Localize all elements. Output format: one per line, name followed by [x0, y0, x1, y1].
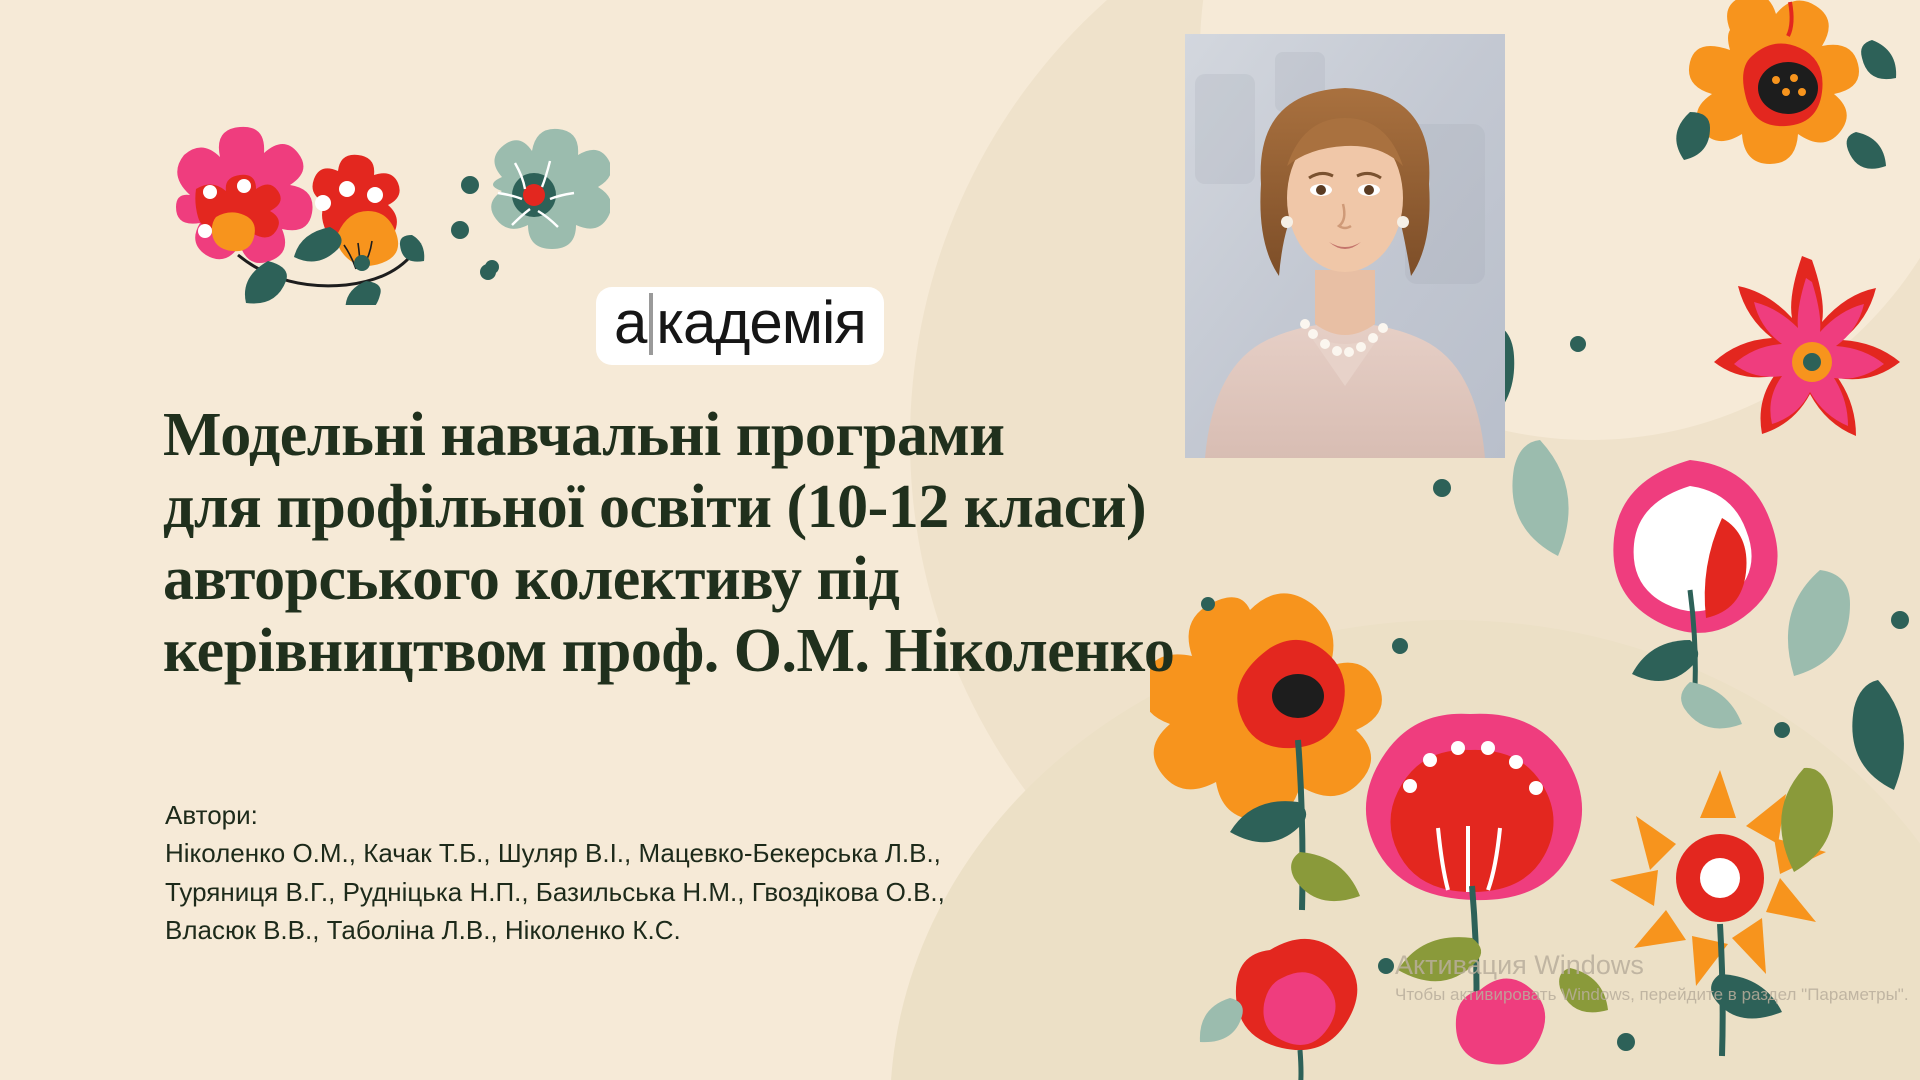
red-bud-flower-icon — [313, 155, 400, 269]
title-line-3: авторського колективу під — [163, 544, 1343, 616]
leaf-icon — [294, 227, 342, 262]
portrait-photo — [1185, 34, 1505, 458]
page-title: Модельні навчальні програми для профільн… — [163, 400, 1343, 688]
title-line-1: Модельні навчальні програми — [163, 400, 1343, 472]
dot-accent — [451, 221, 469, 239]
leaf-icon — [345, 281, 380, 305]
watermark-title: Активация Windows — [1395, 950, 1909, 981]
floral-decoration-top-left — [130, 85, 610, 305]
logo-letter-rest: кадемія — [656, 289, 865, 356]
title-line-2: для профільної освіти (10-12 класи) — [163, 472, 1343, 544]
dot-accent — [485, 260, 499, 274]
authors-line-1: Ніколенко О.М., Качак Т.Б., Шуляр В.І., … — [165, 834, 1215, 872]
logo-text: академія — [614, 293, 866, 355]
leaf-icon — [400, 235, 424, 262]
authors-line-3: Власюк В.В., Таболіна Л.В., Ніколенко К.… — [165, 911, 1215, 949]
logo-cursor-bar — [649, 293, 653, 355]
dot-accent — [354, 255, 370, 271]
akademia-logo[interactable]: академія — [596, 287, 884, 365]
windows-activation-watermark: Активация Windows Чтобы активировать Win… — [1395, 950, 1909, 1005]
stem-line — [238, 243, 420, 286]
authors-block: Автори: Ніколенко О.М., Качак Т.Б., Шуля… — [165, 796, 1215, 950]
authors-label: Автори: — [165, 796, 1215, 834]
watermark-subtitle: Чтобы активировать Windows, перейдите в … — [1395, 984, 1909, 1005]
title-line-4: керівництвом проф. О.М. Ніколенко — [163, 616, 1343, 688]
leaf-icon — [245, 261, 287, 304]
floral-dot-accent-group — [420, 170, 500, 280]
presentation-slide: академія Модельні навчальні програми для… — [0, 0, 1920, 1080]
dot-accent — [461, 176, 479, 194]
pink-flower-icon — [176, 127, 313, 263]
sage-flower-icon — [491, 129, 610, 249]
dot-accent — [480, 264, 496, 280]
logo-letter-a: а — [614, 289, 646, 356]
authors-line-2: Туряниця В.Г., Рудніцька Н.П., Базильськ… — [165, 873, 1215, 911]
